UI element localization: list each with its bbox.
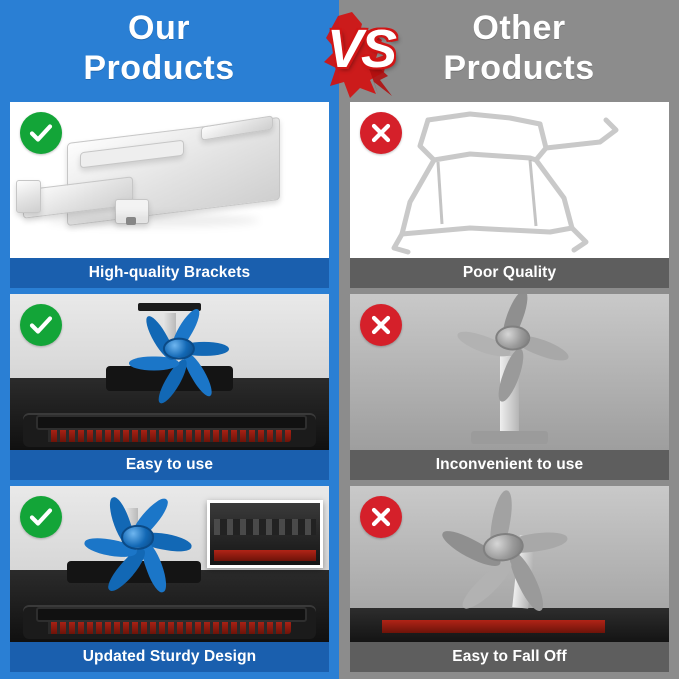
check-badge [20,496,62,538]
card-inconvenient-to-use[interactable]: Inconvenient to use [350,294,669,480]
card-4-caption: Inconvenient to use [350,450,669,480]
card-6-photo [350,486,669,642]
other-products-line2: Products [360,48,678,88]
check-icon [28,504,54,530]
cards-grid: High-quality Brackets [0,98,679,679]
other-products-line1: Other [360,8,678,48]
bracket-left-foot [16,180,40,213]
card-5-photo [10,486,329,642]
gray-fan-base [471,431,548,443]
bracket-shadow [48,214,259,226]
ember-glow [382,620,605,632]
card-6-caption: Easy to Fall Off [350,642,669,672]
headline: Our Products VS Other Products [0,0,679,98]
gray-fan-blades [452,297,573,378]
card-2-photo [350,102,669,258]
card-2-caption: Poor Quality [350,258,669,288]
card-high-quality-brackets[interactable]: High-quality Brackets [10,102,329,288]
stove-grate [48,620,290,634]
cross-icon [369,121,393,145]
check-icon [28,120,54,146]
card-easy-to-fall-off[interactable]: Easy to Fall Off [350,486,669,672]
cross-icon [369,313,393,337]
closeup-inset [207,500,323,568]
fan-hub [163,337,195,360]
our-products-line2: Products [0,48,318,88]
stove-rail [36,607,308,622]
cross-badge [360,304,402,346]
other-products-title: Other Products [360,8,678,88]
check-icon [28,312,54,338]
comparison-poster: Our Products VS Other Products [0,0,679,679]
check-badge [20,304,62,346]
inset-rail-detail [214,519,315,535]
card-1-photo [10,102,329,258]
bracket-plate [67,117,280,226]
card-updated-sturdy-design[interactable]: Updated Sturdy Design [10,486,329,672]
card-4-photo [350,294,669,450]
card-3-caption: Easy to use [10,450,329,480]
card-3-photo [10,294,329,450]
fan-hub [121,525,155,549]
our-products-title: Our Products [0,8,318,88]
cross-icon [369,505,393,529]
card-5-caption: Updated Sturdy Design [10,642,329,672]
inset-ember [214,550,315,561]
cross-badge [360,112,402,154]
stove-rail [36,415,308,430]
check-badge [20,112,62,154]
vs-label: VS [318,18,404,80]
stove-grate [48,428,290,442]
cross-badge [360,496,402,538]
card-1-caption: High-quality Brackets [10,258,329,288]
blue-fan-blades [80,498,195,576]
card-poor-quality[interactable]: Poor Quality [350,102,669,288]
gray-fan-blades [427,492,579,601]
blue-fan-blades [125,313,233,385]
card-easy-to-use[interactable]: Easy to use [10,294,329,480]
our-products-line1: Our [0,8,318,48]
gray-fan-hub [495,325,531,350]
